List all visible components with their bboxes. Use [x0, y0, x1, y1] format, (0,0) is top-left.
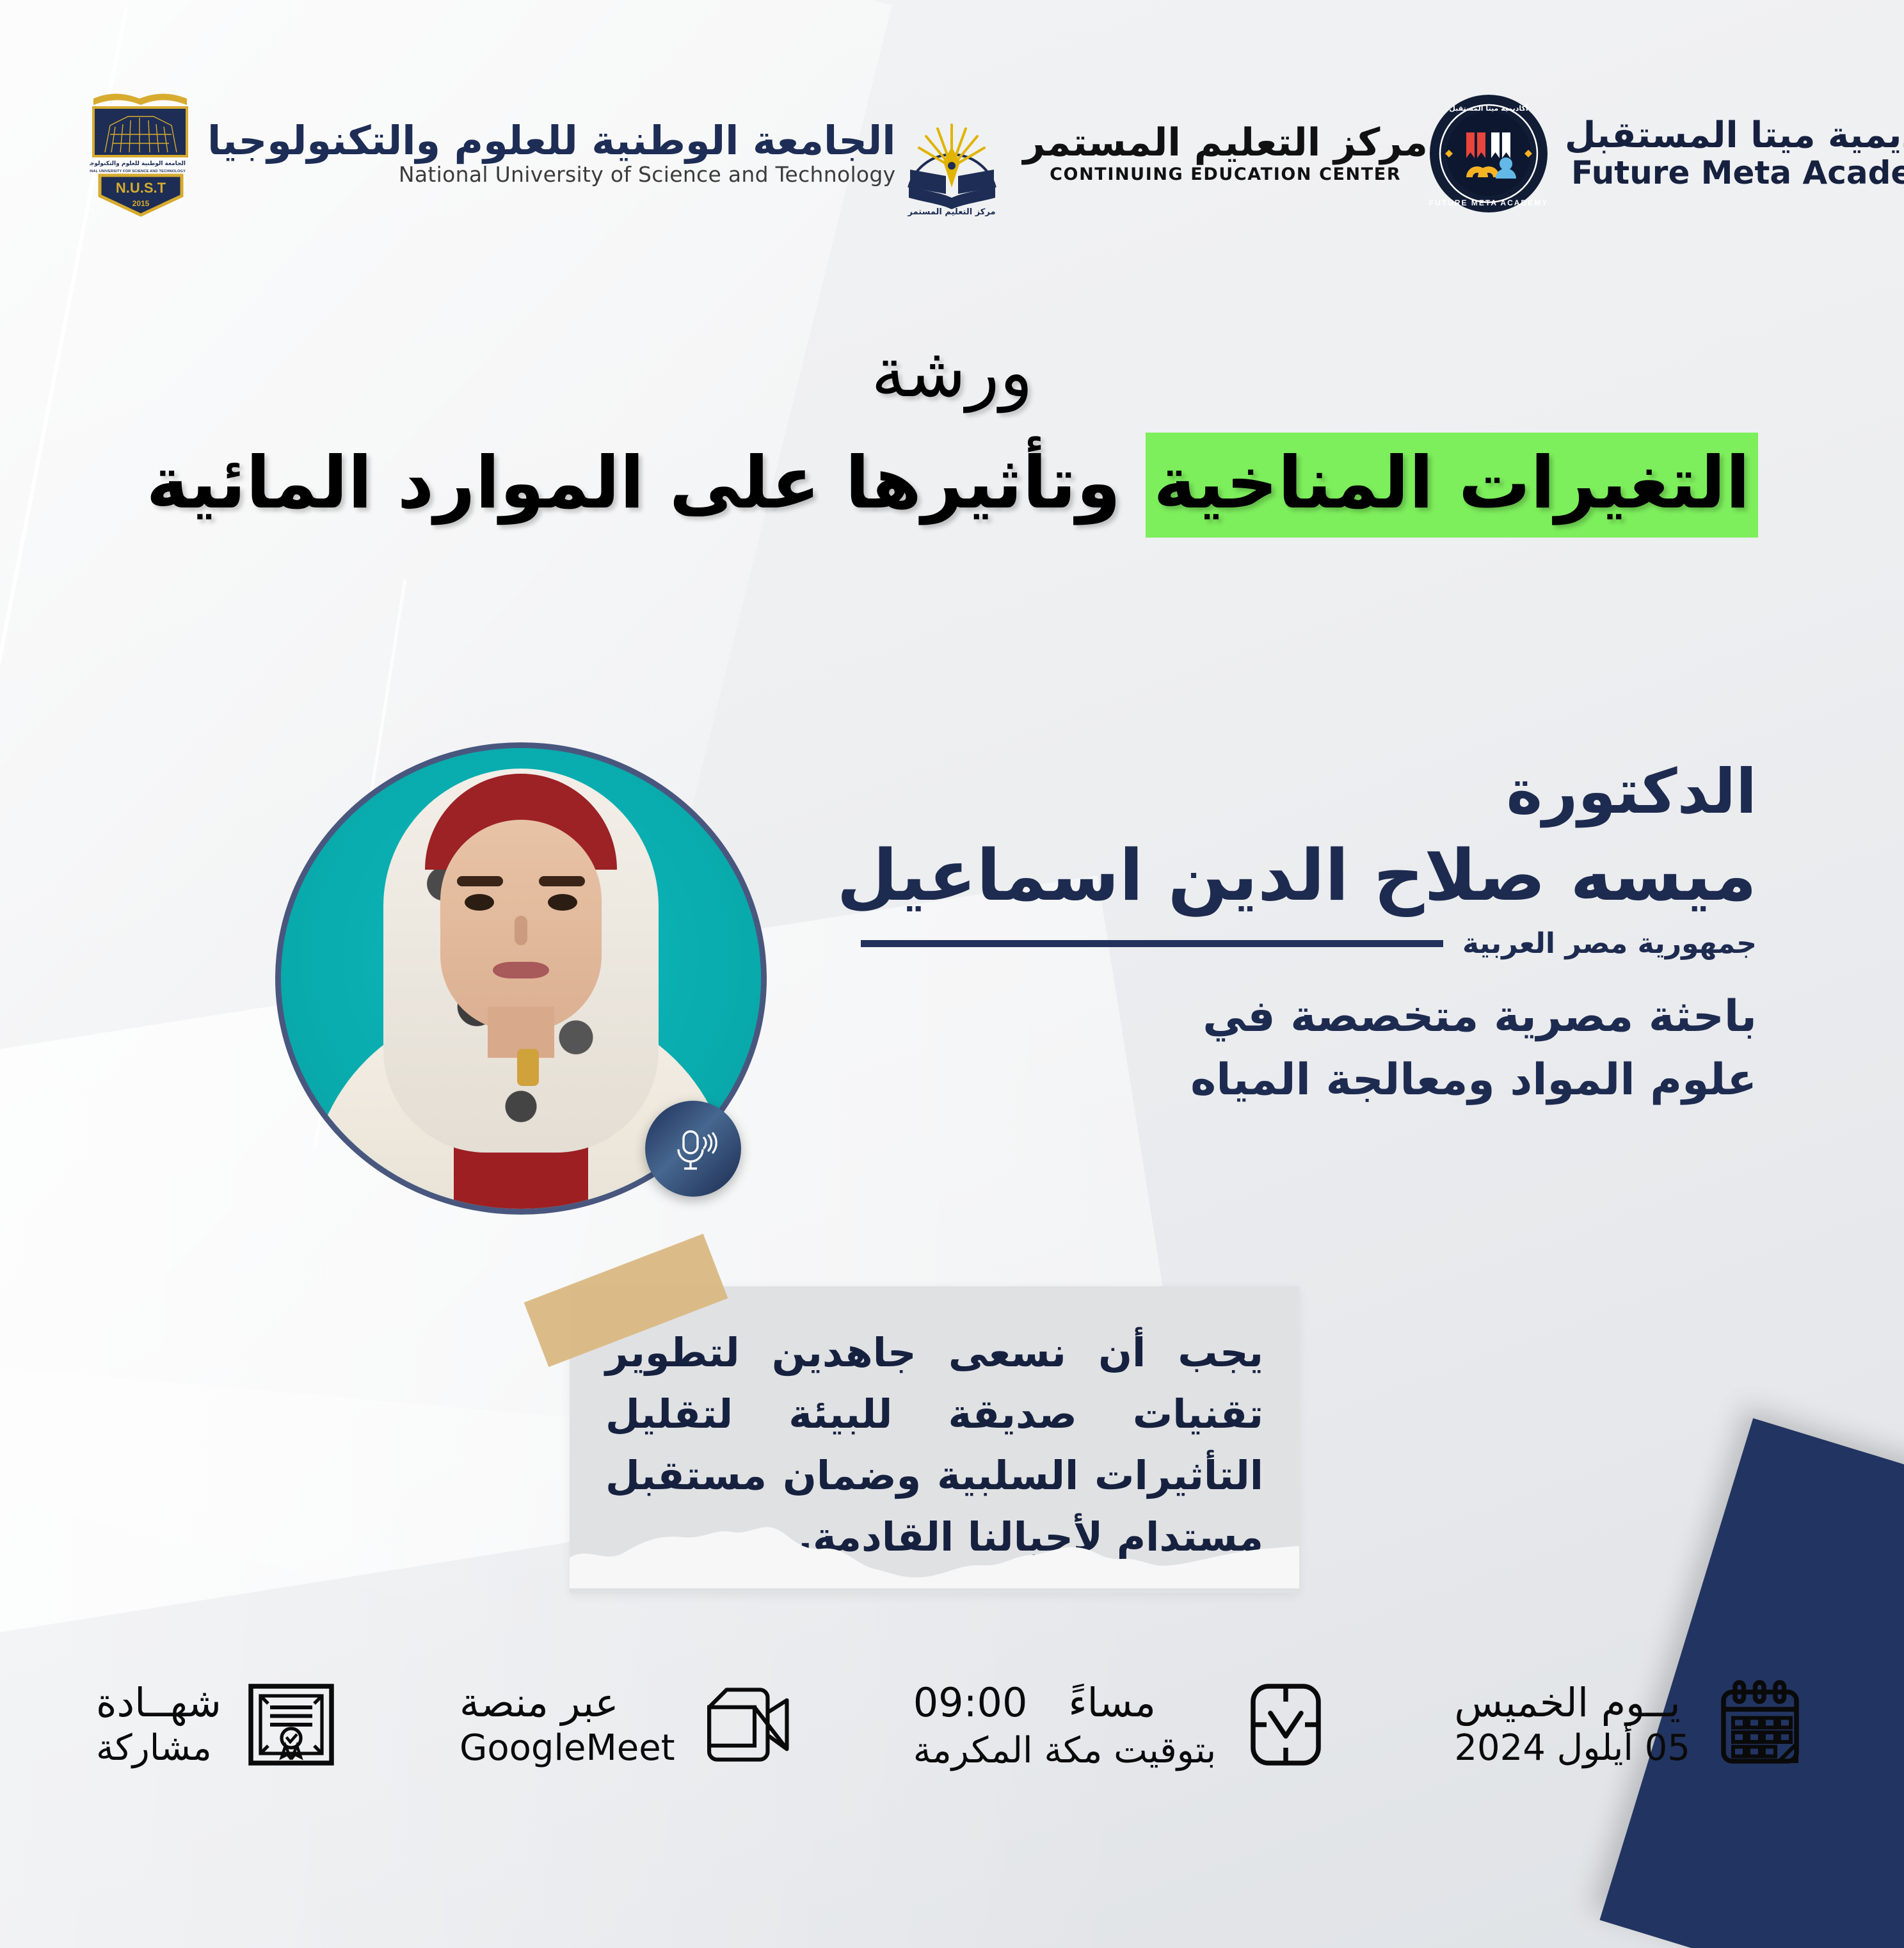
speaker-country: جمهورية مصر العربية	[1462, 927, 1757, 960]
cec-english-name: CONTINUING EDUCATION CENTER	[1050, 164, 1401, 184]
event-details-bar: يــوم الخميس 05 أيلول 2024 مساءً 09:00 ب…	[0, 1677, 1904, 1773]
svg-text:NATIONAL UNIVERSITY FOR SCIENC: NATIONAL UNIVERSITY FOR SCIENCE AND TECH…	[90, 170, 186, 173]
title-highlight: التغيرات المناخية	[1146, 433, 1757, 538]
divider-rule	[861, 940, 1443, 947]
avatar-eye-left	[465, 894, 494, 911]
cec-book-pen-icon: مركز التعليم المستمر	[896, 92, 1008, 216]
time-timezone: بتوقيت مكة المكرمة	[913, 1732, 1216, 1770]
avatar-mouth	[493, 962, 549, 978]
logo-future-meta-academy: FUTURE META ACADEMY أكاديمية ميتا المستق…	[1428, 93, 1904, 214]
time-period: مساءً	[1068, 1679, 1156, 1726]
detail-time: مساءً 09:00 بتوقيت مكة المكرمة	[913, 1677, 1334, 1773]
platform-line-1: عبر منصة	[460, 1682, 619, 1723]
avatar-nose	[515, 916, 527, 945]
nust-crest-icon: الجامعة الوطنية للعلوم والتكنولوجيا NATI…	[90, 90, 192, 218]
nust-english-name: National University of Science and Techn…	[399, 162, 896, 187]
time-value: 09:00	[913, 1679, 1028, 1726]
speaker-bio: باحثة مصرية متخصصة في علوم المواد ومعالج…	[861, 986, 1757, 1112]
poster-canvas: الجامعة الوطنية للعلوم والتكنولوجيا NATI…	[0, 0, 1904, 1948]
avatar-brow-right	[539, 876, 585, 886]
svg-text:الجامعة الوطنية للعلوم والتكنو: الجامعة الوطنية للعلوم والتكنولوجيا	[90, 161, 186, 167]
event-type-kicker: ورشة	[0, 333, 1904, 413]
certificate-line-1: شهــادة	[96, 1682, 221, 1723]
date-line-1: يــوم الخميس	[1454, 1682, 1680, 1723]
speaker-bio-line-1: باحثة مصرية متخصصة في	[861, 986, 1757, 1049]
avatar-brow-left	[457, 876, 503, 886]
certificate-line-2: مشاركة	[96, 1730, 212, 1768]
logo-nust: الجامعة الوطنية للعلوم والتكنولوجيا NATI…	[90, 90, 896, 218]
avatar-necklace	[517, 1049, 539, 1086]
avatar-eye-right	[548, 894, 577, 911]
speaker-honorific: الدكتورة	[861, 758, 1757, 826]
speaker-bio-line-2: علوم المواد ومعالجة المياه	[861, 1049, 1757, 1112]
svg-text:مركز التعليم المستمر: مركز التعليم المستمر	[907, 207, 995, 216]
detail-certificate: شهــادة مشاركة	[96, 1677, 339, 1773]
video-camera-icon	[697, 1677, 793, 1773]
logo-cec: مركز التعليم المستمر مركز التعليم المستم…	[896, 92, 1428, 216]
speaker-info: الدكتورة ميسه صلاح الدين اسماعيل جمهورية…	[861, 758, 1757, 1112]
svg-text:2015: 2015	[132, 199, 150, 208]
time-row: مساءً 09:00	[913, 1679, 1156, 1726]
detail-platform: عبر منصة GoogleMeet	[460, 1677, 793, 1773]
platform-line-2: GoogleMeet	[460, 1730, 675, 1768]
nust-arabic-name: الجامعة الوطنية للعلوم والتكنولوجيا	[207, 121, 896, 161]
page-title: التغيرات المناخية وتأثيرها على الموارد ا…	[0, 442, 1904, 525]
title-rest: وتأثيرها على الموارد المائية	[146, 442, 1146, 525]
fma-english-name: Future Meta Academy	[1571, 156, 1904, 190]
wavy-divider-icon	[570, 1518, 1299, 1588]
svg-text:أكاديمية ميتا المستقبل: أكاديمية ميتا المستقبل	[1449, 104, 1528, 113]
logo-header: الجامعة الوطنية للعلوم والتكنولوجيا NATI…	[0, 90, 1904, 218]
speaker-country-row: جمهورية مصر العربية	[861, 927, 1757, 960]
clock-icon	[1238, 1677, 1334, 1773]
calendar-icon	[1712, 1677, 1808, 1773]
svg-text:FUTURE META ACADEMY: FUTURE META ACADEMY	[1429, 198, 1548, 207]
cec-arabic-name: مركز التعليم المستمر	[1023, 124, 1428, 162]
quote-card: يجب أن نسعى جاهدين لتطوير تقنيات صديقة ل…	[570, 1286, 1299, 1593]
detail-date: يــوم الخميس 05 أيلول 2024	[1454, 1677, 1808, 1773]
svg-text:N.U.S.T: N.U.S.T	[116, 180, 166, 196]
date-line-2: 05 أيلول 2024	[1454, 1730, 1690, 1768]
fma-arabic-name: أكاديمية ميتا المستقبل	[1565, 117, 1904, 155]
microphone-icon	[667, 1122, 719, 1175]
speaker-photo-block	[275, 640, 755, 1203]
microphone-badge	[645, 1101, 741, 1197]
certificate-icon	[243, 1677, 339, 1773]
speaker-name: ميسه صلاح الدين اسماعيل	[861, 835, 1757, 916]
future-meta-academy-seal-icon: FUTURE META ACADEMY أكاديمية ميتا المستق…	[1428, 93, 1549, 214]
